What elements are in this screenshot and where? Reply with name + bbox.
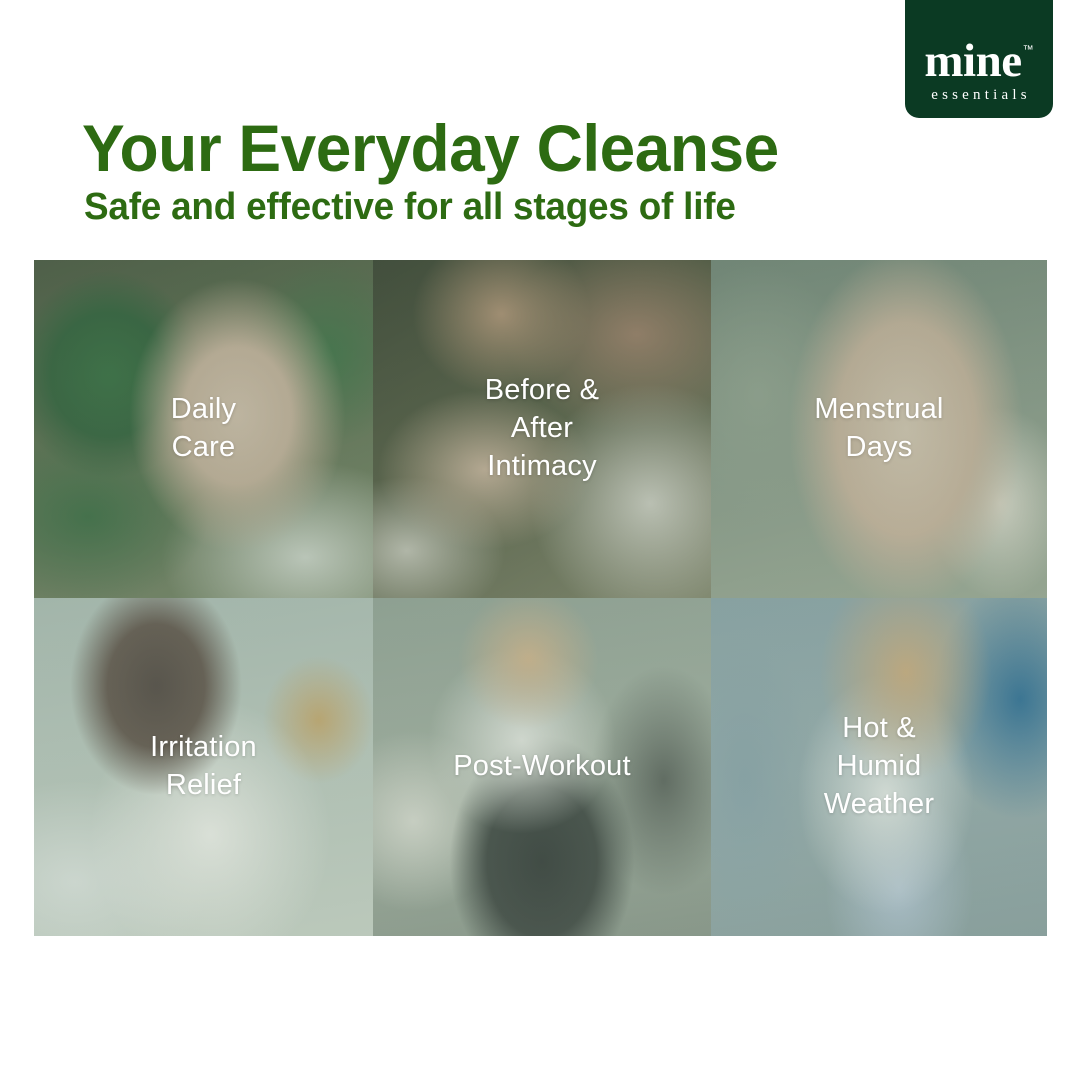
logo-wordmark: mine ™ [924, 40, 1033, 83]
trademark-icon: ™ [1023, 44, 1034, 56]
grid-cell-hot-humid-weather[interactable]: Hot & Humid Weather [711, 598, 1047, 936]
grid-cell-irritation-relief[interactable]: Irritation Relief [34, 598, 373, 936]
grid-cell-label: Post-Workout [453, 748, 631, 786]
grid-cell-label: Before & After Intimacy [485, 372, 599, 485]
logo-subtext: essentials [927, 87, 1031, 104]
grid-cell-before-after-intimacy[interactable]: Before & After Intimacy [373, 260, 711, 598]
grid-cell-menstrual-days[interactable]: Menstrual Days [711, 260, 1047, 598]
logo-word-text: mine [924, 40, 1021, 83]
use-case-grid: Daily Care Before & After Intimacy Menst… [34, 260, 1047, 936]
page-title: Your Everyday Cleanse [82, 115, 779, 181]
grid-cell-label: Daily Care [171, 391, 236, 466]
grid-cell-post-workout[interactable]: Post-Workout [373, 598, 711, 936]
promo-poster: mine ™ essentials Your Everyday Cleanse … [0, 0, 1080, 1080]
grid-cell-daily-care[interactable]: Daily Care [34, 260, 373, 598]
grid-cell-label: Menstrual Days [814, 391, 943, 466]
page-subtitle: Safe and effective for all stages of lif… [84, 188, 736, 226]
grid-cell-label: Irritation Relief [150, 729, 257, 804]
brand-logo[interactable]: mine ™ essentials [905, 0, 1053, 118]
grid-cell-label: Hot & Humid Weather [824, 710, 934, 823]
